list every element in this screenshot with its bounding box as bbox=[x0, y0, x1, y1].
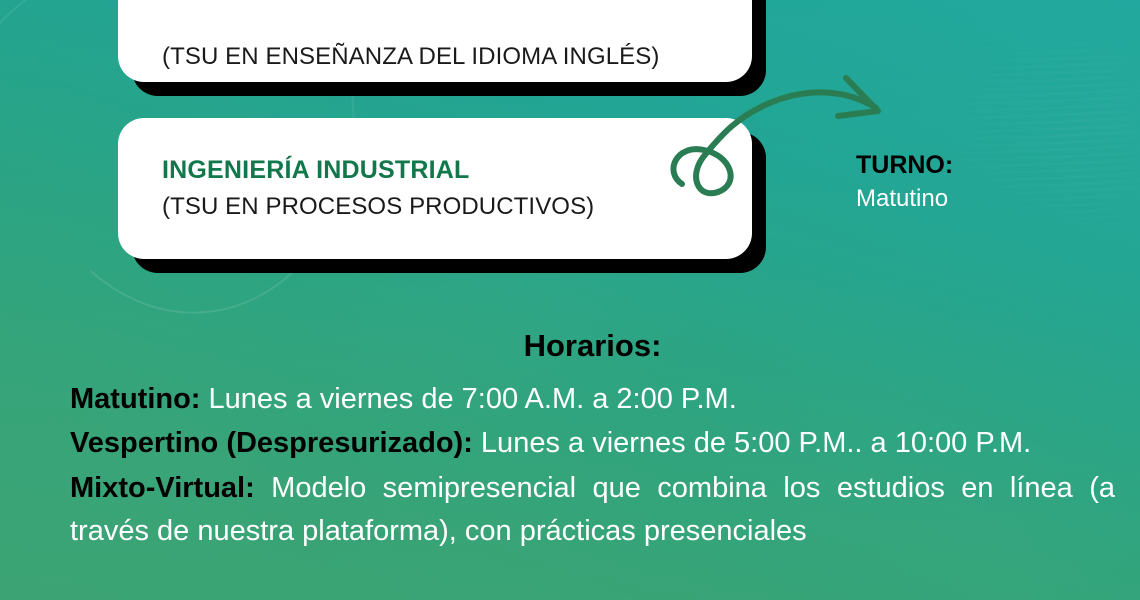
horario-item-mixto-virtual-label: Mixto-Virtual: bbox=[70, 472, 255, 504]
program-card-english: (TSU EN ENSEÑANZA DEL IDIOMA INGLÉS) bbox=[118, 0, 752, 82]
poster-canvas: (TSU EN ENSEÑANZA DEL IDIOMA INGLÉS) ING… bbox=[0, 0, 1140, 600]
horarios-title: Horarios: bbox=[70, 328, 1115, 364]
program-card-industrial-subtitle: (TSU EN PROCESOS PRODUCTIVOS) bbox=[162, 191, 708, 222]
horario-item-vespertino-text: Lunes a viernes de 5:00 P.M.. a 10:00 P.… bbox=[473, 427, 1031, 459]
horario-item-matutino-label: Matutino: bbox=[70, 383, 200, 415]
horarios-block: Horarios: Matutino: Lunes a viernes de 7… bbox=[70, 328, 1115, 554]
program-card-industrial-title: INGENIERÍA INDUSTRIAL bbox=[162, 155, 708, 186]
horario-item-mixto-virtual: Mixto-Virtual: Modelo semipresencial que… bbox=[70, 467, 1115, 552]
horario-item-vespertino: Vespertino (Despresurizado): Lunes a vie… bbox=[70, 422, 1115, 465]
horario-item-matutino: Matutino: Lunes a viernes de 7:00 A.M. a… bbox=[70, 378, 1115, 421]
horario-item-matutino-text: Lunes a viernes de 7:00 A.M. a 2:00 P.M. bbox=[200, 383, 736, 415]
program-card-industrial: INGENIERÍA INDUSTRIAL (TSU EN PROCESOS P… bbox=[118, 118, 752, 259]
turno-label: TURNO: bbox=[856, 152, 1106, 180]
turno-block: TURNO: Matutino bbox=[856, 152, 1106, 212]
program-card-english-subtitle: (TSU EN ENSEÑANZA DEL IDIOMA INGLÉS) bbox=[162, 41, 708, 72]
turno-value: Matutino bbox=[856, 186, 1106, 212]
horario-item-vespertino-label: Vespertino (Despresurizado): bbox=[70, 427, 473, 459]
